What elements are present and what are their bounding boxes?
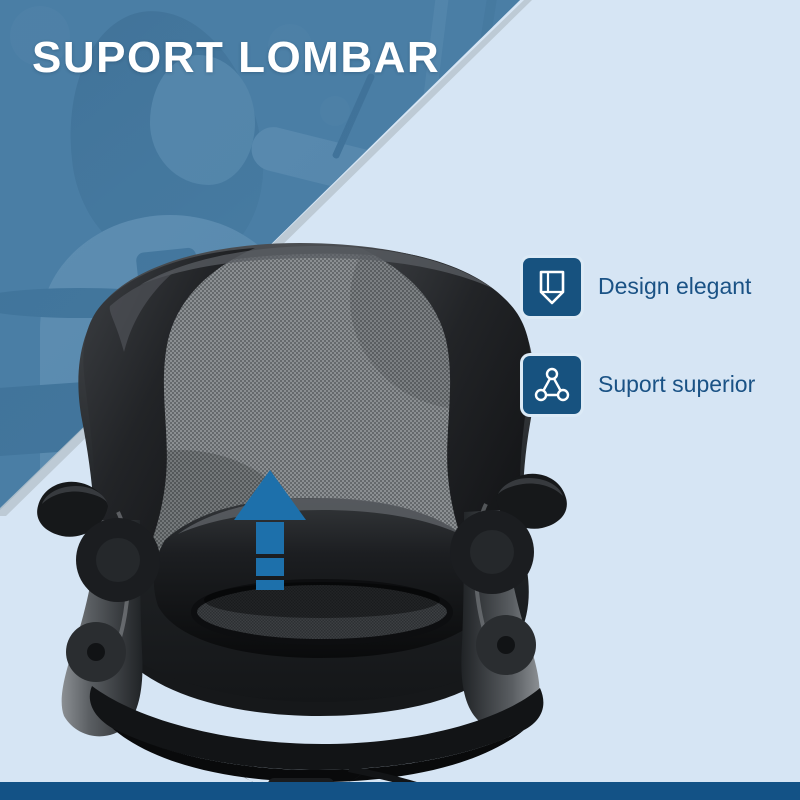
network-triangle-icon <box>523 356 581 414</box>
feature-label: Suport superior <box>598 372 755 397</box>
product-feature-banner: SUPORT LOMBAR <box>0 0 800 800</box>
left-pivot-knob-core <box>87 643 105 661</box>
arrow-shaft-2 <box>256 558 284 576</box>
right-arm-mount-inner <box>470 530 514 574</box>
right-armrest <box>461 474 567 730</box>
feature-list: Design elegant Suport superior <box>523 258 793 454</box>
feature-item-design-elegant[interactable]: Design elegant <box>523 258 793 316</box>
left-arm-mount-inner <box>96 538 140 582</box>
bottom-accent-bar <box>0 782 800 800</box>
arrow-head <box>234 470 306 520</box>
right-pivot-knob-core <box>497 636 515 654</box>
lumbar-direction-arrow <box>232 468 308 590</box>
feature-label: Design elegant <box>598 274 751 299</box>
pencil-icon <box>523 258 581 316</box>
arrow-shaft-3 <box>256 580 284 590</box>
feature-item-suport-superior[interactable]: Suport superior <box>523 356 793 414</box>
arrow-shaft-1 <box>256 522 284 554</box>
